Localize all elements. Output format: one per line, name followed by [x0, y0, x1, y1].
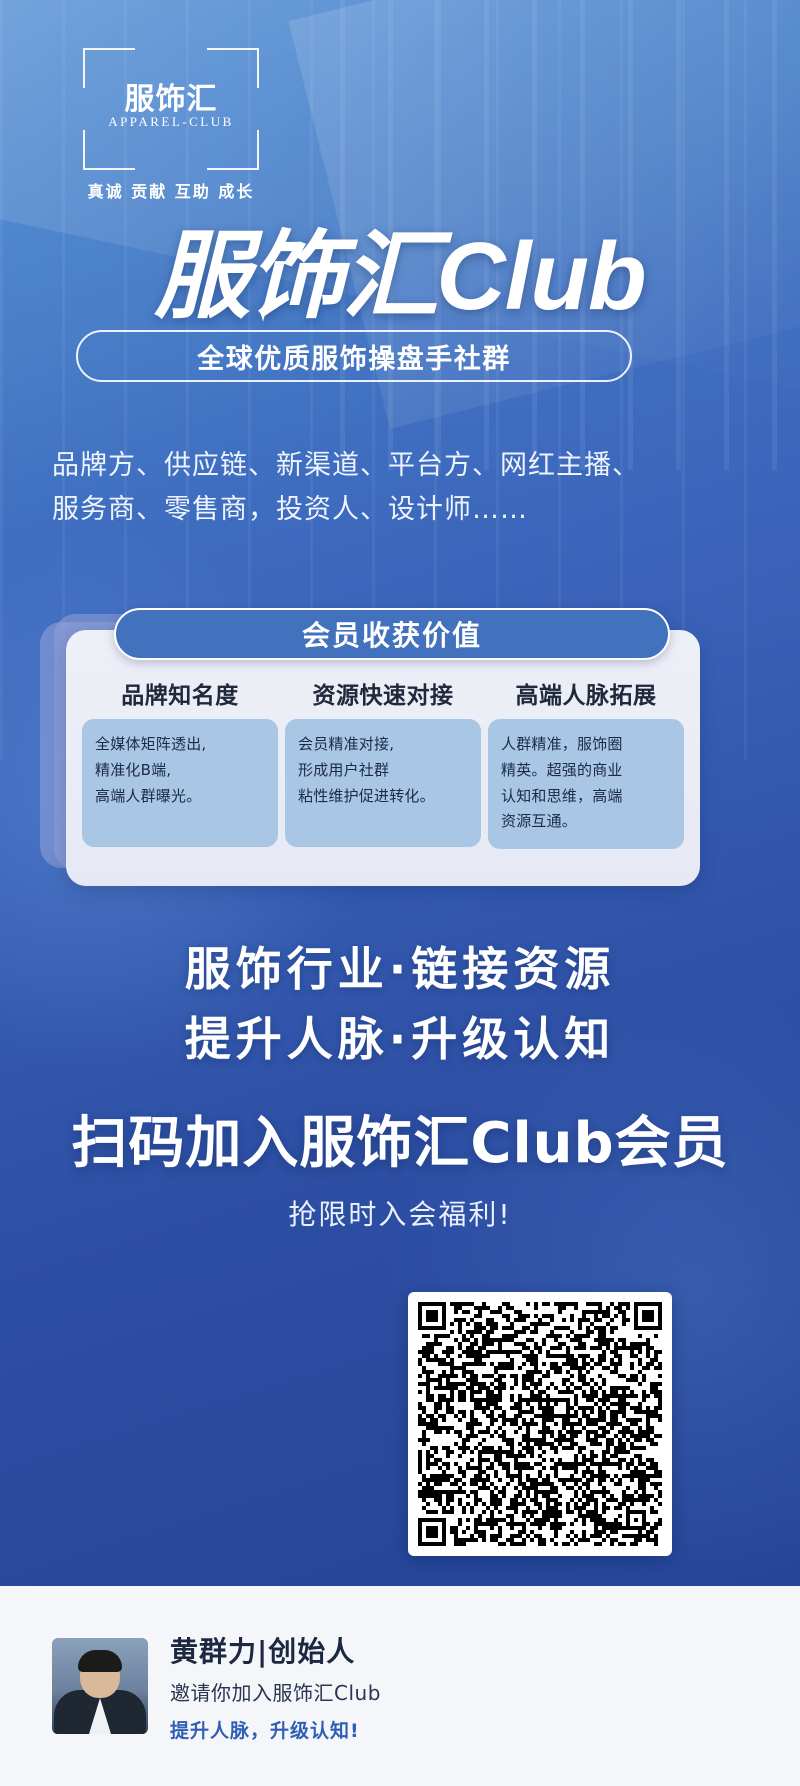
logo-frame: 服饰汇 APPAREL-CLUB [83, 48, 259, 170]
audience-line-1: 品牌方、供应链、新渠道、平台方、网红主播、 [52, 444, 752, 488]
slogan-line-1: 服饰行业·链接资源 [0, 935, 800, 1005]
call-to-action: 扫码加入服饰汇Club会员 抢限时入会福利! [0, 1098, 800, 1233]
member-value-header: 会员收获价值 [114, 608, 670, 660]
footer-bar: 黄群力|创始人 邀请你加入服饰汇Club 提升人脉，升级认知! [0, 1586, 800, 1786]
slogan-line-2: 提升人脉·升级认知 [0, 1005, 800, 1075]
value-column-resources: 资源快速对接 会员精准对接, 形成用户社群 粘性维护促进转化。 [285, 676, 481, 849]
value-body-line: 认知和思维，高端 [501, 784, 671, 810]
page-title-english: Club [436, 223, 645, 330]
value-column-title: 高端人脉拓展 [488, 676, 684, 710]
value-column-body: 会员精准对接, 形成用户社群 粘性维护促进转化。 [285, 719, 481, 847]
founder-invite-text: 邀请你加入服饰汇Club [170, 1677, 381, 1706]
value-column-title: 资源快速对接 [285, 676, 481, 710]
value-column-network: 高端人脉拓展 人群精准，服饰圈 精英。超强的商业 认知和思维，高端 资源互通。 [488, 676, 684, 849]
qr-code-image [418, 1302, 662, 1546]
subtitle-badge: 全球优质服饰操盘手社群 [76, 330, 632, 382]
member-value-section: 会员收获价值 品牌知名度 全媒体矩阵透出, 精准化B端, 高端人群曝光。 资源快… [40, 606, 700, 896]
subtitle-badge-label: 全球优质服饰操盘手社群 [197, 337, 511, 376]
member-value-header-label: 会员收获价值 [302, 614, 482, 654]
logo-chinese-name: 服饰汇 [83, 74, 259, 118]
audience-line-2: 服务商、零售商，投资人、设计师…… [52, 488, 752, 532]
value-column-brand: 品牌知名度 全媒体矩阵透出, 精准化B端, 高端人群曝光。 [82, 676, 278, 849]
promo-poster: 服饰汇 APPAREL-CLUB 真诚 贡献 互助 成长 服饰汇Club 全球优… [0, 0, 800, 1786]
value-column-title: 品牌知名度 [82, 676, 278, 710]
avatar [52, 1638, 148, 1734]
member-value-panel: 会员收获价值 品牌知名度 全媒体矩阵透出, 精准化B端, 高端人群曝光。 资源快… [66, 630, 700, 886]
frame-corner-bottom-left-icon [83, 130, 135, 170]
frame-corner-bottom-right-icon [207, 130, 259, 170]
value-body-line: 精英。超强的商业 [501, 758, 671, 784]
audience-description: 品牌方、供应链、新渠道、平台方、网红主播、 服务商、零售商，投资人、设计师…… [52, 444, 752, 531]
founder-slogan: 提升人脉，升级认知! [170, 1716, 381, 1743]
founder-info: 黄群力|创始人 邀请你加入服饰汇Club 提升人脉，升级认知! [170, 1630, 381, 1743]
value-body-line: 会员精准对接, [298, 732, 468, 758]
page-title-chinese: 服饰汇 [154, 220, 436, 332]
value-column-body: 全媒体矩阵透出, 精准化B端, 高端人群曝光。 [82, 719, 278, 847]
brand-logo: 服饰汇 APPAREL-CLUB 真诚 贡献 互助 成长 [56, 48, 286, 202]
value-body-line: 全媒体矩阵透出, [95, 732, 265, 758]
cta-headline: 扫码加入服饰汇Club会员 [0, 1098, 800, 1179]
logo-english-name: APPAREL-CLUB [83, 114, 259, 130]
value-body-line: 高端人群曝光。 [95, 784, 265, 810]
cta-subtext: 抢限时入会福利! [0, 1193, 800, 1233]
slogan-block: 服饰行业·链接资源 提升人脉·升级认知 [0, 935, 800, 1075]
value-body-line: 精准化B端, [95, 758, 265, 784]
page-title: 服饰汇Club [0, 198, 800, 337]
value-body-line: 粘性维护促进转化。 [298, 784, 468, 810]
value-body-line: 人群精准，服饰圈 [501, 732, 671, 758]
value-body-line: 资源互通。 [501, 809, 671, 835]
qr-code[interactable] [408, 1292, 672, 1556]
value-column-body: 人群精准，服饰圈 精英。超强的商业 认知和思维，高端 资源互通。 [488, 719, 684, 849]
member-value-columns: 品牌知名度 全媒体矩阵透出, 精准化B端, 高端人群曝光。 资源快速对接 会员精… [66, 676, 700, 849]
avatar-hair [78, 1650, 122, 1672]
founder-name: 黄群力|创始人 [170, 1630, 381, 1670]
value-body-line: 形成用户社群 [298, 758, 468, 784]
